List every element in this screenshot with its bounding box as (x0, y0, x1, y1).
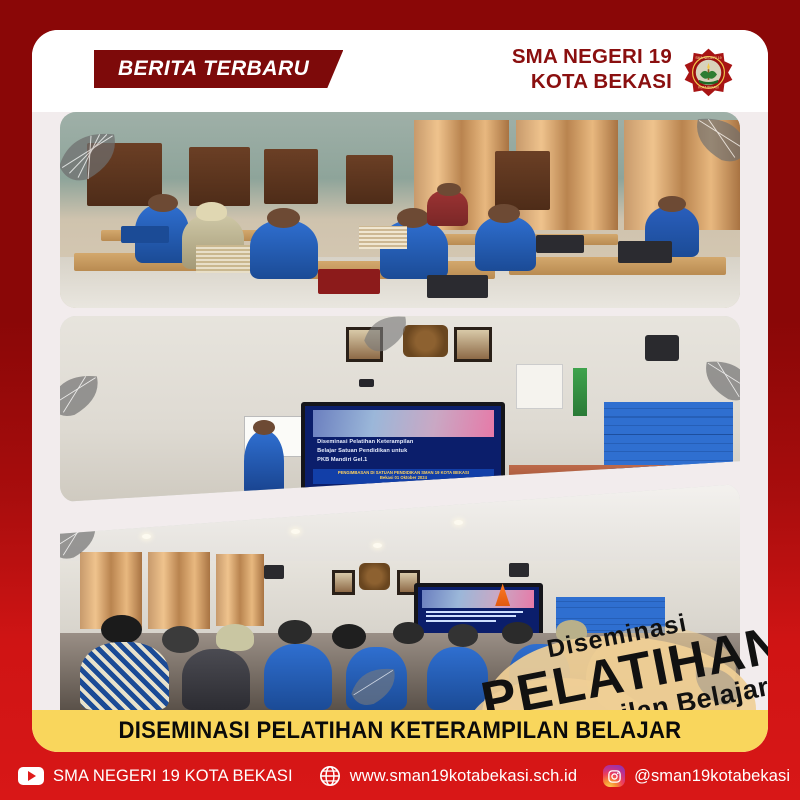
instagram-icon (603, 765, 625, 787)
photo-presenter-screen: Diseminasi Pelatihan Keterampilan Belaja… (60, 316, 740, 502)
berita-terbaru-badge: BERITA TERBARU (94, 50, 343, 88)
footer-instagram[interactable]: @sman19kotabekasi (603, 765, 790, 787)
photo-audience-hall (60, 484, 740, 710)
presenter-figure (244, 431, 285, 498)
globe-icon (319, 765, 341, 787)
slide-line1: Diseminasi Pelatihan Keterampilan (317, 439, 413, 446)
youtube-icon (18, 767, 44, 785)
school-name-block: SMA NEGERI 19 KOTA BEKASI (512, 44, 672, 94)
contact-footer: SMA NEGERI 19 KOTA BEKASI www.sman19kota… (0, 752, 800, 800)
headline-title: DISEMINASI PELATIHAN KETERAMPILAN BELAJA… (119, 717, 682, 745)
headline-title-bar: DISEMINASI PELATIHAN KETERAMPILAN BELAJA… (32, 710, 768, 752)
presentation-screen: Diseminasi Pelatihan Keterampilan Belaja… (301, 402, 505, 491)
svg-text:KOTA BEKASI: KOTA BEKASI (698, 85, 719, 89)
photo-staff-room (60, 112, 740, 308)
school-crest-icon: SMA NEGERI 19 KOTA BEKASI (682, 47, 735, 100)
footer-website[interactable]: www.sman19kotabekasi.sch.id (319, 765, 577, 787)
badge-label: BERITA TERBARU (118, 57, 309, 81)
slide-line2: Belajar Satuan Pendidikan untuk (317, 448, 407, 455)
svg-text:SMA NEGERI 19: SMA NEGERI 19 (695, 56, 721, 60)
instagram-label: @sman19kotabekasi (634, 767, 790, 786)
poster-header: BERITA TERBARU SMA NEGERI 19 KOTA BEKASI… (32, 30, 768, 112)
photo-collage: Diseminasi Pelatihan Keterampilan Belaja… (32, 112, 768, 710)
slide-footer-line2: Bekasi 01 Oktober 2024 (305, 475, 501, 481)
slide-line3: PKB Mandiri Gel.1 (317, 457, 367, 464)
school-name-line2: KOTA BEKASI (512, 69, 672, 94)
website-label: www.sman19kotabekasi.sch.id (350, 767, 577, 786)
footer-youtube[interactable]: SMA NEGERI 19 KOTA BEKASI (18, 767, 293, 786)
youtube-label: SMA NEGERI 19 KOTA BEKASI (53, 767, 293, 786)
poster-card: BERITA TERBARU SMA NEGERI 19 KOTA BEKASI… (32, 30, 768, 752)
school-name-line1: SMA NEGERI 19 (512, 44, 672, 69)
